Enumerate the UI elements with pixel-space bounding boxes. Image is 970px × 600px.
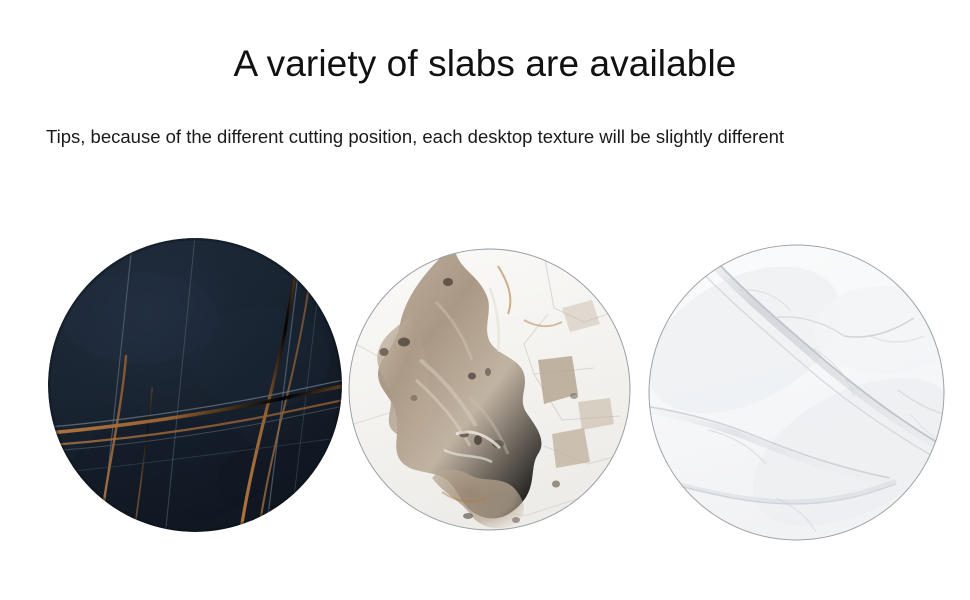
- dark-navy-slab-texture: [48, 238, 342, 532]
- white-marble-slab-texture: [648, 244, 945, 541]
- dark-navy-slab-swatch[interactable]: [48, 238, 342, 532]
- beige-marble-slab-texture: [348, 248, 631, 531]
- slab-variety-banner: A variety of slabs are available Tips, b…: [0, 0, 970, 600]
- slab-gallery: [0, 238, 970, 538]
- page-subtitle: Tips, because of the different cutting p…: [46, 118, 936, 156]
- page-title: A variety of slabs are available: [0, 42, 970, 86]
- white-marble-slab-swatch[interactable]: [648, 244, 945, 541]
- beige-marble-slab-swatch[interactable]: [348, 248, 631, 531]
